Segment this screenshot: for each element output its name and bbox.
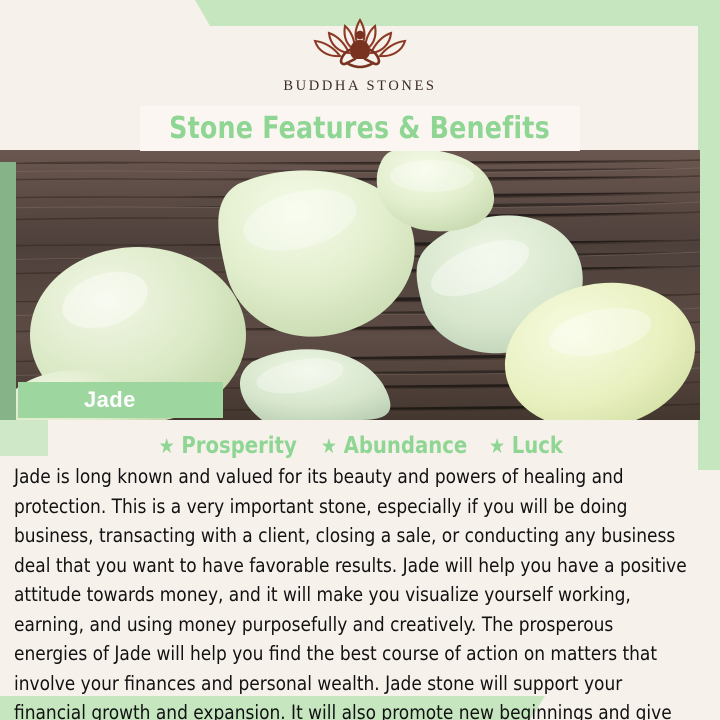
benefit-item-luck: ★ Luck [489, 433, 563, 459]
star-icon: ★ [321, 436, 337, 457]
benefits-row: ★ Prosperity ★ Abundance ★ Luck [0, 430, 720, 462]
benefit-item-prosperity: ★ Prosperity [159, 433, 297, 459]
lotus-meditation-icon [285, 14, 435, 76]
stone-name-bar: Jade [18, 382, 223, 418]
benefit-label: Luck [511, 433, 562, 459]
stone-name-label: Jade [84, 387, 136, 413]
star-icon: ★ [159, 436, 175, 457]
stone-photo [0, 150, 700, 420]
benefit-label: Prosperity [182, 433, 297, 459]
title-banner: Stone Features & Benefits [140, 106, 580, 151]
infographic-page: BUDDHA STONES Stone Features & Benefits [0, 0, 720, 720]
star-icon: ★ [489, 436, 505, 457]
brand-name: BUDDHA STONES [283, 78, 436, 95]
benefit-label: Abundance [343, 433, 467, 459]
brand-logo: BUDDHA STONES [0, 14, 720, 106]
stone-photo-illustration [0, 150, 700, 420]
description-text: Jade is long known and valued for its be… [14, 462, 691, 720]
page-title: Stone Features & Benefits [170, 111, 551, 146]
benefit-item-abundance: ★ Abundance [321, 433, 467, 459]
decorative-left-strip [0, 162, 16, 420]
